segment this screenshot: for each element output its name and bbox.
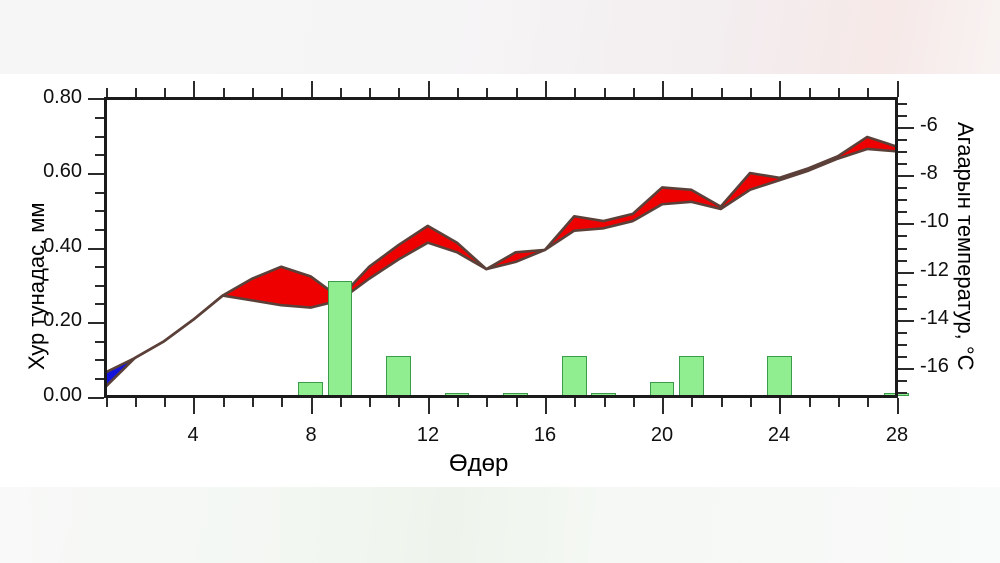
tick-mark — [898, 223, 914, 225]
tick-mark — [88, 322, 104, 324]
tick-label: 0.00 — [0, 384, 82, 407]
tick-mark — [95, 359, 104, 361]
tick-mark — [164, 398, 166, 407]
precipitation-bar — [386, 356, 411, 397]
tick-mark — [898, 175, 914, 177]
tick-mark — [838, 88, 840, 97]
tick-mark — [779, 81, 781, 97]
tick-mark — [545, 398, 547, 414]
tick-mark — [95, 117, 104, 119]
tick-mark — [223, 88, 225, 97]
tick-label: 0.60 — [0, 160, 82, 183]
tick-mark — [311, 398, 313, 414]
tick-mark — [95, 229, 104, 231]
tick-mark — [898, 332, 907, 334]
series-canvas — [0, 0, 1000, 563]
tick-mark — [898, 127, 914, 129]
tick-mark — [281, 398, 283, 407]
tick-mark — [779, 398, 781, 414]
tick-mark — [691, 398, 693, 407]
tick-mark — [867, 398, 869, 407]
tick-mark — [311, 81, 313, 97]
tick-mark — [898, 163, 907, 165]
tick-mark — [898, 272, 914, 274]
tick-label: 12 — [398, 424, 458, 447]
tick-mark — [838, 398, 840, 407]
tick-mark — [809, 88, 811, 97]
tick-mark — [135, 88, 137, 97]
tick-mark — [252, 398, 254, 407]
tick-mark — [574, 398, 576, 407]
tick-mark — [898, 187, 907, 189]
tick-mark — [398, 88, 400, 97]
tick-mark — [898, 380, 907, 382]
tick-mark — [898, 320, 914, 322]
tick-mark — [750, 88, 752, 97]
tick-mark — [88, 173, 104, 175]
x-axis-title: Өдөр — [449, 450, 508, 478]
y-axis-right-title: Агаарын температур, °С — [952, 122, 978, 371]
tick-mark — [95, 285, 104, 287]
tick-mark — [867, 88, 869, 97]
tick-mark — [106, 398, 108, 407]
tick-mark — [95, 378, 104, 380]
tick-mark — [721, 398, 723, 407]
tick-mark — [898, 356, 907, 358]
tick-mark — [750, 398, 752, 407]
tick-mark — [486, 398, 488, 407]
tick-mark — [898, 151, 907, 153]
tick-mark — [95, 210, 104, 212]
tick-label: 20 — [632, 424, 692, 447]
tick-mark — [898, 368, 914, 370]
tick-mark — [106, 88, 108, 97]
tick-mark — [898, 199, 907, 201]
tick-mark — [95, 266, 104, 268]
tick-mark — [898, 308, 907, 310]
tick-mark — [281, 88, 283, 97]
precipitation-bar — [767, 356, 792, 397]
screenshot-root: 4812162024280.000.200.400.600.80-6-8-10-… — [0, 0, 1000, 563]
tick-mark — [457, 88, 459, 97]
band-positive — [224, 137, 897, 308]
tick-mark — [897, 398, 899, 414]
axis-top — [104, 97, 898, 100]
tick-mark — [428, 398, 430, 414]
tick-mark — [604, 88, 606, 97]
tick-mark — [88, 248, 104, 250]
tick-mark — [898, 260, 907, 262]
precipitation-bar — [328, 281, 353, 396]
tick-mark — [809, 398, 811, 407]
tick-label: 24 — [749, 424, 809, 447]
tick-label: 16 — [515, 424, 575, 447]
model-temperature-curve — [106, 137, 897, 387]
tick-mark — [898, 284, 907, 286]
tick-mark — [898, 392, 907, 394]
tick-mark — [898, 103, 907, 105]
tick-mark — [662, 398, 664, 414]
tick-mark — [898, 139, 907, 141]
tick-mark — [193, 81, 195, 97]
tick-mark — [95, 192, 104, 194]
tick-mark — [604, 398, 606, 407]
tick-mark — [164, 88, 166, 97]
tick-mark — [633, 398, 635, 407]
tick-label: 4 — [163, 424, 223, 447]
tick-mark — [95, 154, 104, 156]
tick-mark — [691, 88, 693, 97]
tick-mark — [95, 136, 104, 138]
tick-mark — [340, 88, 342, 97]
y-axis-left-title: Хур тунадас, мм — [24, 202, 50, 370]
precipitation-bar — [562, 356, 587, 397]
precipitation-temperature-chart: 4812162024280.000.200.400.600.80-6-8-10-… — [0, 0, 1000, 563]
tick-mark — [88, 98, 104, 100]
tick-mark — [95, 303, 104, 305]
tick-mark — [95, 341, 104, 343]
tick-mark — [721, 88, 723, 97]
tick-mark — [369, 88, 371, 97]
tick-mark — [662, 81, 664, 97]
tick-mark — [898, 296, 907, 298]
axis-left — [104, 97, 107, 398]
tick-mark — [898, 235, 907, 237]
tick-mark — [398, 398, 400, 407]
tick-mark — [369, 398, 371, 407]
tick-mark — [135, 398, 137, 407]
tick-mark — [457, 398, 459, 407]
tick-mark — [633, 88, 635, 97]
tick-label: 8 — [281, 424, 341, 447]
tick-mark — [898, 211, 907, 213]
tick-mark — [516, 88, 518, 97]
tick-label: 28 — [867, 424, 927, 447]
tick-mark — [898, 115, 907, 117]
tick-mark — [88, 397, 104, 399]
tick-mark — [223, 398, 225, 407]
tick-mark — [897, 81, 899, 97]
tick-mark — [486, 88, 488, 97]
tick-mark — [545, 81, 547, 97]
tick-mark — [516, 398, 518, 407]
tick-mark — [898, 344, 907, 346]
precipitation-bar — [679, 356, 704, 397]
tick-mark — [428, 81, 430, 97]
tick-mark — [574, 88, 576, 97]
tick-label: 0.80 — [0, 86, 82, 109]
tick-mark — [898, 248, 907, 250]
tick-mark — [252, 88, 254, 97]
tick-mark — [340, 398, 342, 407]
tick-mark — [193, 398, 195, 414]
